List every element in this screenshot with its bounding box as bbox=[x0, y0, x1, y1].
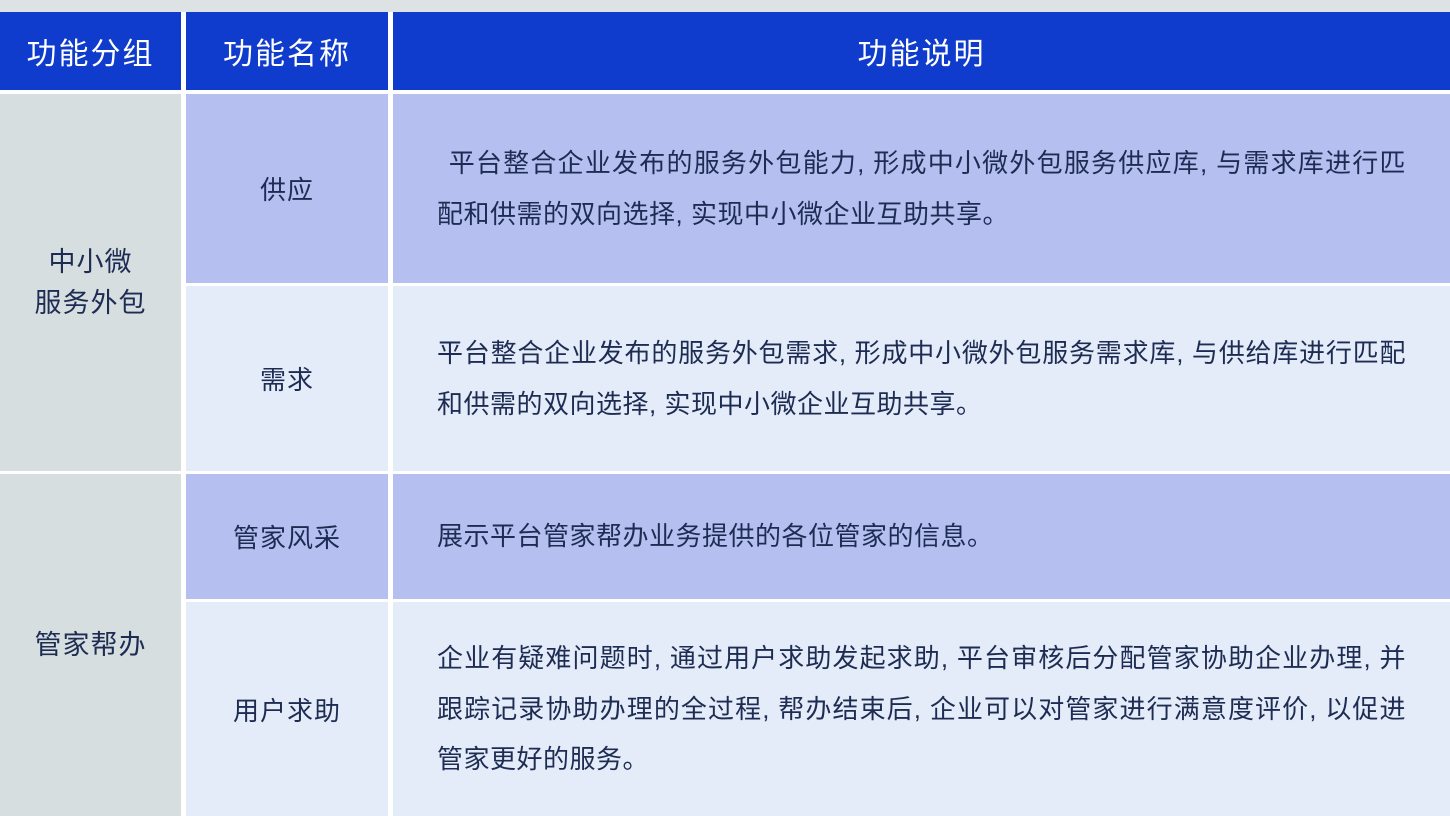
feature-description-supply-text: 平台整合企业发布的服务外包能力, 形成中小微外包服务供应库, 与需求库进行匹配和… bbox=[437, 138, 1406, 239]
column-header-name: 功能名称 bbox=[186, 12, 388, 90]
group2-label-line-1: 管家帮办 bbox=[35, 625, 147, 666]
feature-description-supply: 平台整合企业发布的服务外包能力, 形成中小微外包服务供应库, 与需求库进行匹配和… bbox=[393, 94, 1450, 283]
table-sheet: 功能分组 功能名称 功能说明 中小微 服务外包 供应 平台整合企业发布的服务外包… bbox=[0, 0, 1450, 816]
feature-name-user-help-request: 用户求助 bbox=[186, 602, 388, 816]
group-label-line-2: 服务外包 bbox=[35, 283, 147, 324]
group-label-line-1: 中小微 bbox=[35, 242, 147, 283]
feature-name-supply: 供应 bbox=[186, 94, 388, 283]
feature-description-user-help-request-text: 企业有疑难问题时, 通过用户求助发起求助, 平台审核后分配管家协助企业办理, 并… bbox=[437, 633, 1406, 785]
feature-description-user-help-request: 企业有疑难问题时, 通过用户求助发起求助, 平台审核后分配管家协助企业办理, 并… bbox=[393, 602, 1450, 816]
feature-name-demand: 需求 bbox=[186, 286, 388, 471]
group-cell-smes-outsourcing: 中小微 服务外包 bbox=[0, 94, 181, 471]
feature-description-demand: 平台整合企业发布的服务外包需求, 形成中小微外包服务需求库, 与供给库进行匹配和… bbox=[393, 286, 1450, 471]
column-header-group: 功能分组 bbox=[0, 12, 181, 90]
feature-table: 功能分组 功能名称 功能说明 中小微 服务外包 供应 平台整合企业发布的服务外包… bbox=[0, 12, 1450, 816]
group-cell-butler-service: 管家帮办 bbox=[0, 474, 181, 816]
feature-description-butler-showcase-text: 展示平台管家帮办业务提供的各位管家的信息。 bbox=[437, 511, 1406, 562]
feature-description-butler-showcase: 展示平台管家帮办业务提供的各位管家的信息。 bbox=[393, 474, 1450, 599]
top-strip bbox=[0, 0, 1450, 12]
column-header-description: 功能说明 bbox=[393, 12, 1450, 90]
feature-name-butler-showcase: 管家风采 bbox=[186, 474, 388, 599]
feature-description-demand-text: 平台整合企业发布的服务外包需求, 形成中小微外包服务需求库, 与供给库进行匹配和… bbox=[437, 328, 1406, 429]
